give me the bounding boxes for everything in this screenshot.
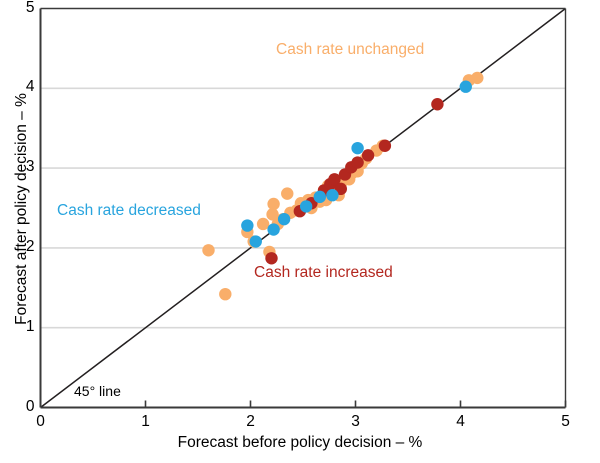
axis-tick-marks xyxy=(146,401,566,408)
y-tick-label: 1 xyxy=(9,318,35,336)
y-tick-label: 4 xyxy=(9,78,35,96)
x-tick-label: 4 xyxy=(446,413,476,431)
x-tick-label: 1 xyxy=(131,413,161,431)
label-cash-rate-unchanged: Cash rate unchanged xyxy=(276,41,424,59)
label-45-degree-line: 45° line xyxy=(74,383,121,399)
y-tick-label: 5 xyxy=(9,0,35,17)
x-tick-label: 3 xyxy=(341,413,371,431)
label-cash-rate-decreased: Cash rate decreased xyxy=(57,202,201,220)
x-axis-title: Forecast before policy decision – % xyxy=(0,434,600,452)
y-tick-label: 0 xyxy=(9,398,35,416)
x-tick-label: 5 xyxy=(551,413,581,431)
label-cash-rate-increased: Cash rate increased xyxy=(254,264,393,282)
y-tick-label: 2 xyxy=(9,238,35,256)
y-tick-label: 3 xyxy=(9,158,35,176)
x-tick-label: 2 xyxy=(236,413,266,431)
y-axis-title: Forecast after policy decision – % xyxy=(13,0,31,419)
